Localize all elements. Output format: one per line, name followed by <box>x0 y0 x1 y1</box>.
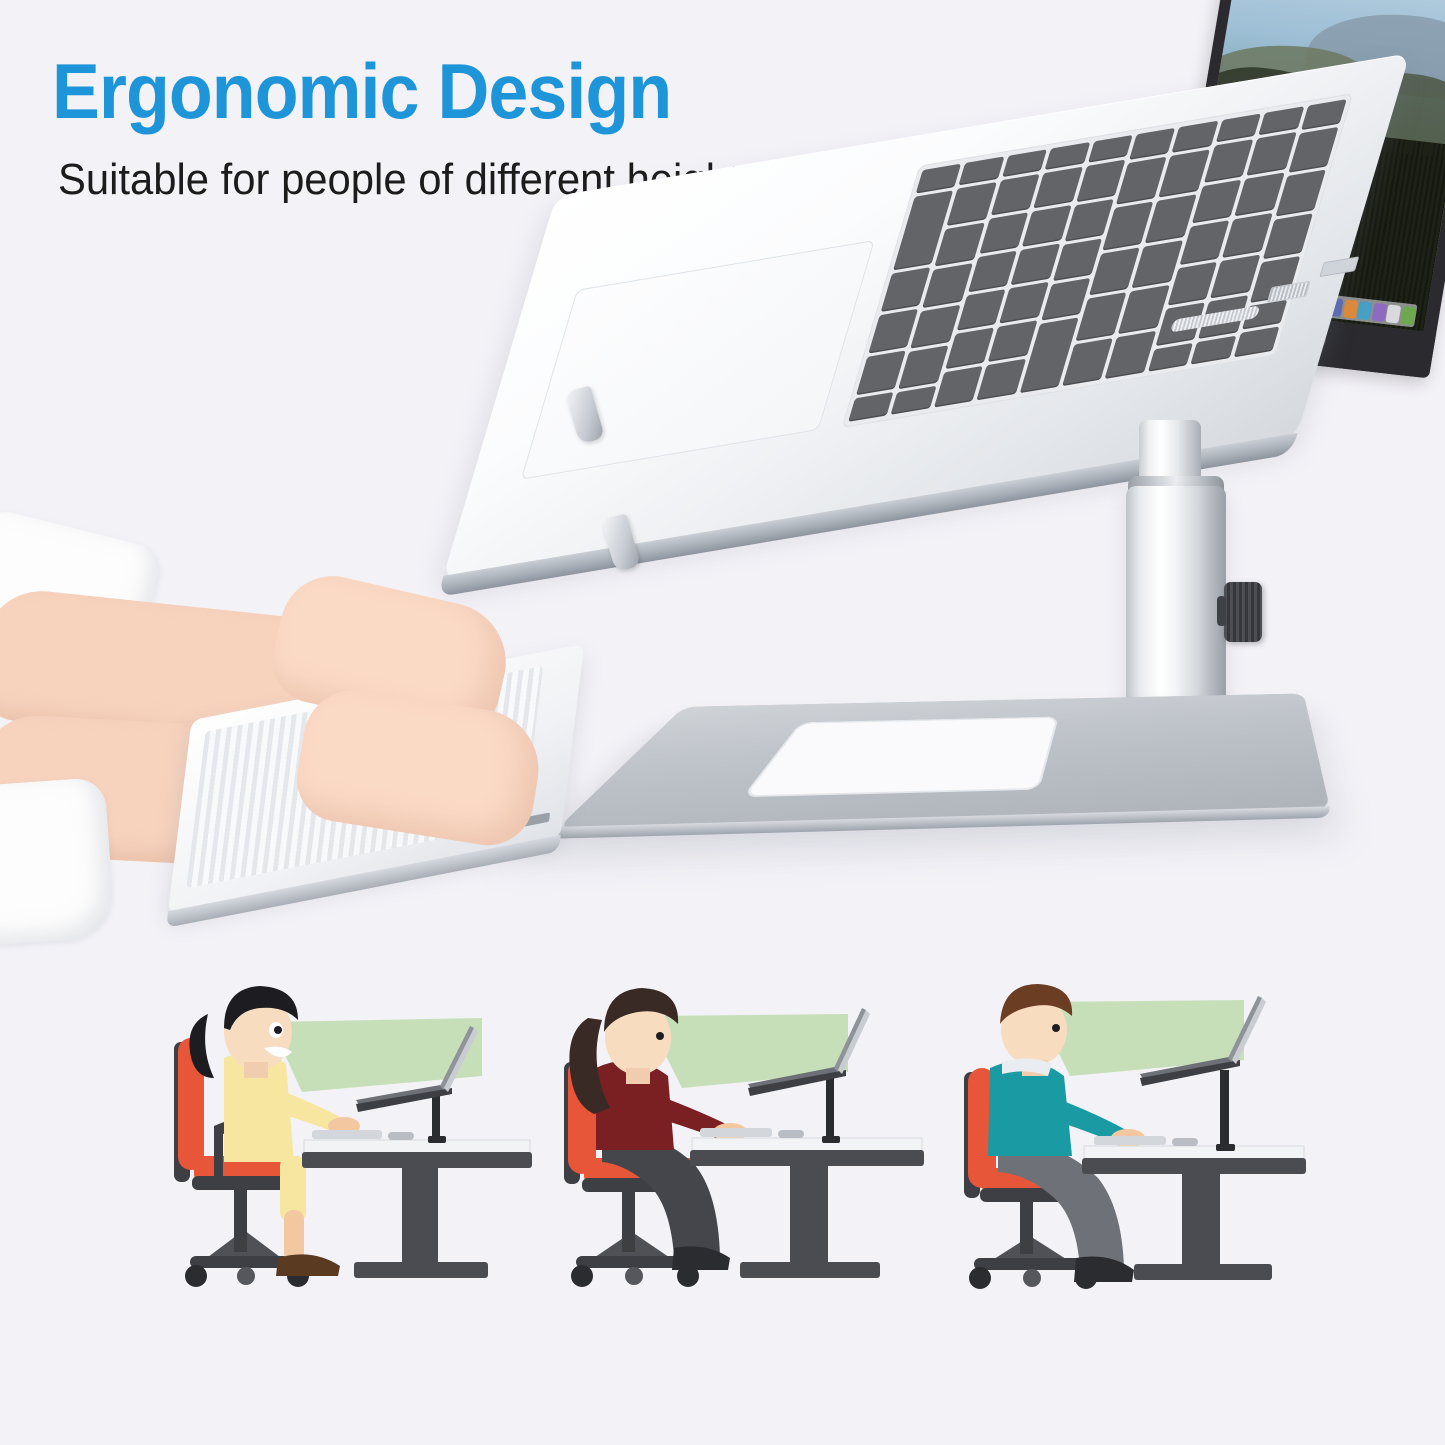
keyboard-key <box>1129 128 1175 160</box>
product-marketing-image: Ergonomic Design Suitable for people of … <box>0 0 1445 1445</box>
figure-woman <box>542 980 928 1310</box>
keyboard-key <box>1172 121 1218 153</box>
keyboard-key <box>934 366 983 408</box>
speaker-grille-icon <box>1170 305 1261 332</box>
keyboard-key <box>959 156 1005 185</box>
keyboard-key <box>977 359 1026 401</box>
keyboard-key <box>1301 99 1347 130</box>
keyboard-key <box>916 164 962 194</box>
keyboard-key <box>1087 135 1132 163</box>
laptop-body <box>442 53 1410 580</box>
dock-app-icon-15 <box>1400 306 1416 325</box>
dock-app-icon-11 <box>1342 299 1358 318</box>
height-adjust-knob[interactable] <box>1224 582 1262 642</box>
figure-man <box>924 980 1310 1310</box>
product-photo <box>0 0 1445 980</box>
keyboard-key <box>1259 106 1305 135</box>
dock-app-icon-13 <box>1371 302 1387 321</box>
shirt-sleeve-lower <box>0 777 115 947</box>
figure-girl <box>152 980 538 1310</box>
keyboard-key <box>848 392 894 422</box>
dock-app-icon-14 <box>1386 304 1402 323</box>
height-comparison-row: 3.9-inch Height 5-inch Height 7.4-inch H… <box>0 980 1445 1445</box>
keyboard-key <box>1216 113 1262 142</box>
dock-app-icon-12 <box>1357 301 1373 320</box>
stand-base-plate <box>556 693 1330 829</box>
keyboard-key <box>891 386 937 415</box>
keyboard-key <box>1002 149 1047 177</box>
hdmi-port-icon <box>1267 281 1311 304</box>
keyboard-key <box>1045 142 1090 170</box>
base-plate-cutout <box>742 717 1059 798</box>
